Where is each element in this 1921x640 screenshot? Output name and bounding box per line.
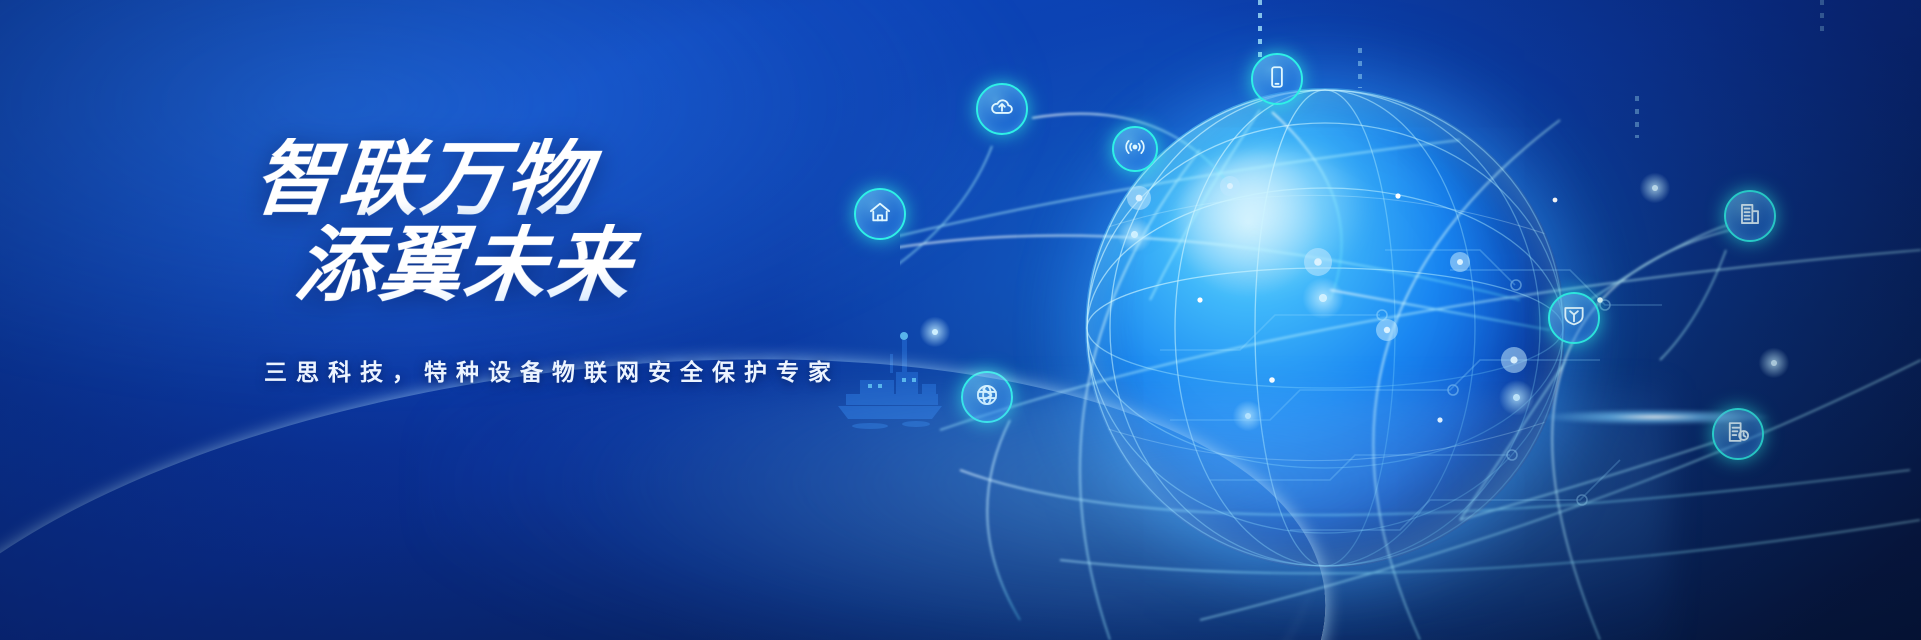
headline-line-1: 智联万物 bbox=[250, 138, 985, 222]
headline-line-2: 添翼未来 bbox=[292, 224, 985, 308]
subtitle: 三思科技，特种设备物联网安全保护专家 bbox=[264, 353, 980, 387]
headline: 智联万物 添翼未来 bbox=[240, 138, 980, 307]
hero-copy: 智联万物 添翼未来 三思科技，特种设备物联网安全保护专家 bbox=[240, 138, 980, 387]
hero-banner: 智联万物 添翼未来 三思科技，特种设备物联网安全保护专家 bbox=[0, 0, 1921, 640]
